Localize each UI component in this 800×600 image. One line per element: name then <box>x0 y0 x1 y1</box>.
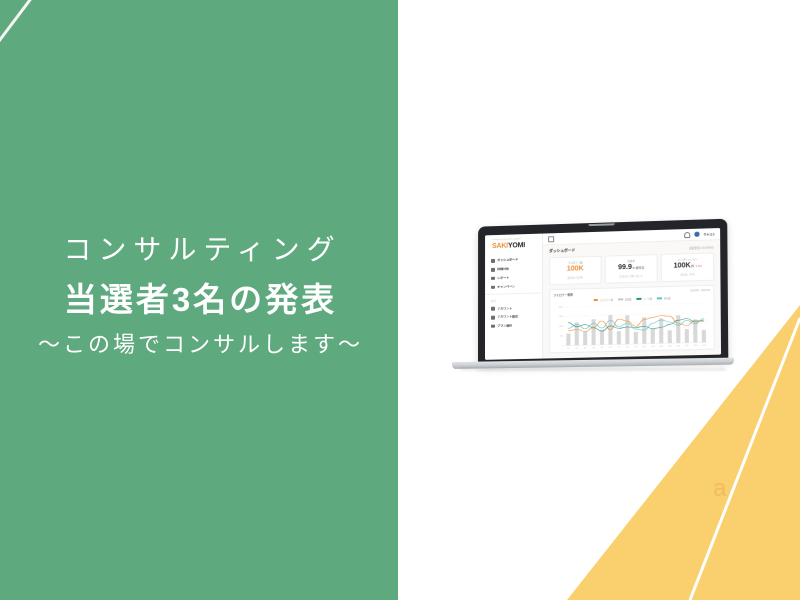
chart-range-selector[interactable]: 2023/01 - 2023/12 <box>690 289 710 293</box>
stat-card-followers[interactable]: フォロワー数 100K 前月比 +12.4% <box>549 256 601 285</box>
svg-text:1500: 1500 <box>559 316 563 318</box>
hamburger-icon[interactable] <box>548 236 554 242</box>
stat-card-sub: 前月比 -3.1% <box>665 272 710 277</box>
sidebar-item-label: 投稿分析 <box>497 268 509 271</box>
sidebar-item-campaign[interactable]: キャンペーン <box>485 281 542 291</box>
svg-text:3月: 3月 <box>584 347 587 350</box>
gear-icon <box>491 316 495 320</box>
laptop-lid: instagram operation support SAKIYOMI ダッシ… <box>478 219 728 366</box>
headline-line-3: 〜この場でコンサルします〜 <box>0 328 398 361</box>
card-icon <box>491 325 495 329</box>
stat-card-value: 100K件▼ 3.1 <box>665 262 710 272</box>
slide-canvas: コンサルティング 当選者3名の発表 〜この場でコンサルします〜 a instag… <box>0 0 800 600</box>
grid-icon <box>491 259 495 263</box>
svg-text:11月: 11月 <box>651 345 655 348</box>
svg-text:6月: 6月 <box>609 346 612 349</box>
svg-text:8月: 8月 <box>626 346 629 349</box>
chart-icon <box>491 268 495 272</box>
legend-item-posts[interactable]: 投稿数 <box>617 297 631 302</box>
page-updated-label: 最終更新 2023/08/01 <box>689 245 714 250</box>
chart-card: フォロワー推移 2023/01 - 2023/12 フォロワー数 <box>549 284 715 353</box>
dashboard-main: サキヨミ ダッシュボード 最終更新 2023/08/01 フォロワー数 100K… <box>543 228 721 359</box>
svg-text:2000: 2000 <box>559 306 563 308</box>
svg-text:1000: 1000 <box>559 326 563 328</box>
document-icon <box>491 277 495 281</box>
headline-line-1: コンサルティング <box>0 230 398 271</box>
legend-item-saves[interactable]: 保存数 <box>656 296 670 301</box>
stat-card-unit: 件 <box>691 264 694 268</box>
sidebar-item-label: プラン選択 <box>497 324 512 327</box>
svg-text:4月: 4月 <box>592 346 595 349</box>
sidebar-nav-secondary: アカウント アカウント設定 プラン選択 <box>485 303 542 331</box>
stat-card-number: 99.9 <box>618 264 632 271</box>
laptop-shadow <box>460 368 726 371</box>
stat-card-unit: % 前月比 <box>632 266 644 270</box>
laptop-mockup: instagram operation support SAKIYOMI ダッシ… <box>452 226 734 386</box>
sidebar-nav-primary: ダッシュボード 投稿分析 レポート <box>485 255 542 292</box>
topbar-username: サキヨミ <box>703 232 715 236</box>
dashboard-sidebar: instagram operation support SAKIYOMI ダッシ… <box>485 234 543 360</box>
svg-text:1月: 1月 <box>567 347 570 350</box>
legend-swatch <box>656 296 663 301</box>
legend-item-followers[interactable]: フォロワー数 <box>592 297 613 302</box>
stat-card-value: 100K <box>553 265 597 275</box>
stat-card-number: 100K <box>674 262 691 270</box>
logo-part-1: SAKI <box>492 243 508 250</box>
svg-text:9月: 9月 <box>635 345 638 348</box>
stat-card-sub: 先月より上昇しました <box>609 274 654 279</box>
svg-text:13月: 13月 <box>668 345 672 348</box>
diagonal-line-decoration <box>0 0 101 80</box>
legend-label: フォロワー数 <box>600 298 613 302</box>
sidebar-item-label: レポート <box>497 276 509 279</box>
logo-wordmark: SAKIYOMI <box>492 241 542 250</box>
stat-card-delta: ▼ 3.1 <box>695 265 702 268</box>
headline-line-2: 当選者3名の発表 <box>0 275 398 325</box>
legend-label: リーチ数 <box>643 297 652 301</box>
svg-text:17月: 17月 <box>702 344 706 347</box>
svg-text:500: 500 <box>560 336 563 338</box>
stat-card-row: フォロワー数 100K 前月比 +12.4% 到達率 99.9% 前月比 先月よ… <box>543 252 720 285</box>
legend-label: 保存数 <box>664 296 671 300</box>
legend-swatch <box>636 297 643 302</box>
stat-card-value: 99.9% 前月比 <box>609 263 654 273</box>
megaphone-icon <box>491 285 495 289</box>
avatar-icon[interactable] <box>695 232 700 237</box>
legend-label: 投稿数 <box>625 297 632 301</box>
sidebar-item-label: アカウント <box>497 307 512 310</box>
stat-card-sub: 前月比 +12.4% <box>553 275 597 280</box>
sidebar-item-label: ダッシュボード <box>497 259 518 263</box>
dashboard-app: instagram operation support SAKIYOMI ダッシ… <box>485 228 721 360</box>
sidebar-item-label: キャンペーン <box>497 285 515 289</box>
bell-icon[interactable] <box>685 231 691 237</box>
legend-item-reach[interactable]: リーチ数 <box>636 296 653 301</box>
combo-chart: 20001500100050001月2月3月4月5月6月7月8月9月10月11月… <box>553 301 710 350</box>
chart-plot-area: 20001500100050001月2月3月4月5月6月7月8月9月10月11月… <box>553 301 710 350</box>
svg-text:15月: 15月 <box>685 344 689 347</box>
page-title: ダッシュボード <box>549 249 575 255</box>
legend-swatch <box>617 297 624 302</box>
topbar-spacer <box>558 235 680 239</box>
laptop-camera-notch <box>588 223 614 226</box>
svg-text:14月: 14月 <box>676 344 680 347</box>
chart-title: フォロワー推移 <box>553 292 573 297</box>
headline-block: コンサルティング 当選者3名の発表 〜この場でコンサルします〜 <box>0 230 398 361</box>
stat-card-impressions[interactable]: インプレッション 100K件▼ 3.1 前月比 -3.1% <box>661 252 714 282</box>
app-logo[interactable]: instagram operation support SAKIYOMI <box>485 239 542 251</box>
svg-text:10月: 10月 <box>642 345 646 348</box>
laptop-screen: instagram operation support SAKIYOMI ダッシ… <box>485 228 721 360</box>
svg-text:7月: 7月 <box>618 346 621 349</box>
svg-text:12月: 12月 <box>659 345 663 348</box>
logo-part-2: YOMI <box>508 242 525 249</box>
stat-card-reach-rate[interactable]: 到達率 99.9% 前月比 先月より上昇しました <box>605 254 658 283</box>
sidebar-item-plan[interactable]: プラン選択 <box>485 321 542 331</box>
sidebar-item-label: アカウント設定 <box>497 315 518 319</box>
svg-text:2月: 2月 <box>575 347 578 350</box>
user-icon <box>491 307 495 311</box>
svg-text:5月: 5月 <box>601 346 604 349</box>
watermark-letter: a <box>713 477 726 501</box>
svg-text:16月: 16月 <box>694 344 698 347</box>
legend-swatch <box>592 298 599 303</box>
svg-text:0: 0 <box>562 345 563 347</box>
